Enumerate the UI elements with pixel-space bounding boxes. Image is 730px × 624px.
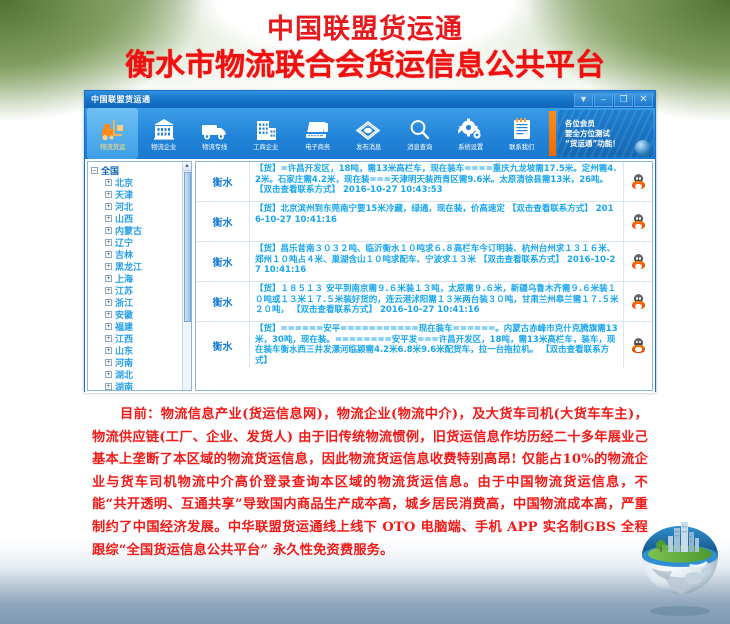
- toolbar-item-publish-message[interactable]: 发布消息: [343, 108, 394, 159]
- toolbar-item-industrial-commercial[interactable]: 工商企业: [240, 108, 291, 159]
- qq-penguin-icon: [632, 338, 645, 353]
- main-toolbar: 物流货运 物流企业: [85, 108, 655, 159]
- row-message-text: 【货】北京滨州到东莞南宁要15米冷藏，绿通，现在装，价高速定 【双击查看联系方式…: [255, 204, 593, 214]
- toolbar-divider: [549, 111, 556, 156]
- earth-city-globe-icon: [634, 516, 726, 616]
- truck-icon: [201, 115, 228, 141]
- qq-penguin-icon: [632, 254, 645, 269]
- expand-toggle-icon[interactable]: +: [105, 347, 112, 354]
- description-paragraph: 目前：物流信息产业(货运信息网)，物流企业(物流中介)，及大货车司机(大货车车主…: [92, 404, 648, 562]
- table-row[interactable]: 衡水【货】=许昌开发区，18吨，需13米高栏车，现在装车====重庆九龙坡需17…: [196, 162, 652, 202]
- close-icon[interactable]: ✕: [634, 93, 653, 107]
- tree-node-province[interactable]: +河南: [91, 356, 191, 368]
- envelope-icon: [355, 115, 381, 141]
- tree-scrollbar[interactable]: ▲: [182, 162, 191, 390]
- qq-penguin-icon: [632, 294, 645, 309]
- tree-node-province[interactable]: +山东: [91, 344, 191, 356]
- building-icon: [152, 115, 176, 141]
- row-contact-button[interactable]: [624, 242, 652, 281]
- tree-node-province[interactable]: +山西: [91, 212, 191, 224]
- collapse-toggle-icon[interactable]: –: [91, 167, 98, 174]
- expand-toggle-icon[interactable]: +: [105, 179, 112, 186]
- table-row[interactable]: 衡水【货】北京滨州到东莞南宁要15米冷藏，绿通，现在装，价高速定 【双击查看联系…: [196, 202, 652, 242]
- expand-toggle-icon[interactable]: +: [105, 251, 112, 258]
- tree-node-province[interactable]: +黑龙江: [91, 260, 191, 272]
- maximize-icon[interactable]: ❐: [614, 93, 633, 107]
- expand-toggle-icon[interactable]: +: [105, 335, 112, 342]
- region-tree-panel: – 全国 +北京+天津+河北+山西+内蒙古+辽宁+吉林+黑龙江+上海+江苏+浙江…: [87, 161, 192, 391]
- headline-line-2: 衡水市物流联合会货运信息公共平台: [0, 48, 730, 84]
- row-city: 衡水: [196, 162, 250, 201]
- tree-node-province[interactable]: +吉林: [91, 248, 191, 260]
- tree-node-province[interactable]: +湖北: [91, 368, 191, 380]
- gear-icon: [458, 115, 483, 141]
- toolbar-item-ecommerce[interactable]: 电子商务: [292, 108, 343, 159]
- row-city: 衡水: [196, 242, 250, 281]
- promo-line-2: 要全方位测试: [565, 129, 653, 139]
- row-message[interactable]: 【货】１８５１３ 安平到南京需９.６米装１３吨，太原需９.６米，新疆乌鲁木齐需９…: [250, 282, 624, 321]
- search-icon: [408, 115, 431, 141]
- freight-message-list: 衡水【货】=许昌开发区，18吨，需13米高栏车，现在装车====重庆九龙坡需17…: [195, 161, 653, 391]
- tree-node-province[interactable]: +安徽: [91, 308, 191, 320]
- row-contact-button[interactable]: [624, 322, 652, 368]
- forklift-icon: [100, 115, 126, 141]
- tree-node-province[interactable]: +湖南: [91, 380, 191, 391]
- row-contact-button[interactable]: [624, 162, 652, 201]
- table-row[interactable]: 衡水【货】======安平===========现在装车======。内蒙古赤峰…: [196, 322, 652, 368]
- expand-toggle-icon[interactable]: +: [105, 263, 112, 270]
- tree-node-province[interactable]: +天津: [91, 188, 191, 200]
- page-title: 中国联盟货运通 衡水市物流联合会货运信息公共平台: [0, 14, 730, 84]
- toolbar-label: 物流企业: [151, 142, 176, 151]
- toolbar-item-logistics-lines[interactable]: 物流专线: [189, 108, 240, 159]
- expand-toggle-icon[interactable]: +: [105, 227, 112, 234]
- window-titlebar: 中国联盟货运通 ▼ – ❐ ✕: [85, 91, 655, 108]
- row-city: 衡水: [196, 202, 250, 241]
- window-title: 中国联盟货运通: [91, 94, 151, 105]
- row-message-text: 【货】======安平===========现在装车======。内蒙古赤峰市克…: [255, 324, 618, 366]
- row-contact-button[interactable]: [624, 282, 652, 321]
- expand-toggle-icon[interactable]: +: [105, 383, 112, 390]
- toolbar-item-logistics-freight[interactable]: 物流货运: [87, 108, 138, 159]
- tree-children: +北京+天津+河北+山西+内蒙古+辽宁+吉林+黑龙江+上海+江苏+浙江+安徽+福…: [91, 176, 191, 391]
- document-icon: [511, 115, 533, 141]
- globe-mini-icon: [635, 140, 651, 156]
- row-timestamp: 2016-10-27 10:41:16: [380, 305, 480, 315]
- tree-node-province[interactable]: +上海: [91, 272, 191, 284]
- expand-toggle-icon[interactable]: +: [105, 323, 112, 330]
- tree-node-province[interactable]: +内蒙古: [91, 224, 191, 236]
- tree-node-province[interactable]: +北京: [91, 176, 191, 188]
- headline-line-1: 中国联盟货运通: [0, 14, 730, 46]
- promo-line-1: 各位会员: [565, 119, 653, 129]
- expand-toggle-icon[interactable]: +: [105, 311, 112, 318]
- row-city: 衡水: [196, 322, 250, 368]
- tree-node-province[interactable]: +浙江: [91, 296, 191, 308]
- toolbar-label: 消息查询: [407, 142, 432, 151]
- row-message[interactable]: 【货】=许昌开发区，18吨，需13米高栏车，现在装车====重庆九龙坡需17.5…: [250, 162, 624, 201]
- qq-penguin-icon: [632, 214, 645, 229]
- toolbar-label: 联系我们: [509, 142, 534, 151]
- expand-toggle-icon[interactable]: +: [105, 191, 112, 198]
- toolbar-label: 物流货运: [100, 142, 125, 151]
- expand-toggle-icon[interactable]: +: [105, 359, 112, 366]
- window-controls: ▼ – ❐ ✕: [574, 93, 653, 107]
- expand-toggle-icon[interactable]: +: [105, 239, 112, 246]
- expand-toggle-icon[interactable]: +: [105, 287, 112, 294]
- toolbar-label: 物流专线: [202, 142, 227, 151]
- row-message[interactable]: 【货】昌乐昔南３０３２吨、临沂衡水１０吨求６.８高栏车今订明装、杭州台州求１３１…: [250, 242, 624, 281]
- minimize-icon[interactable]: –: [594, 93, 613, 107]
- window-body: – 全国 +北京+天津+河北+山西+内蒙古+辽宁+吉林+黑龙江+上海+江苏+浙江…: [85, 159, 655, 393]
- tree-node-nationwide[interactable]: – 全国: [91, 164, 191, 176]
- toolbar-label: 系统设置: [458, 142, 483, 151]
- toolbar-item-logistics-companies[interactable]: 物流企业: [138, 108, 189, 159]
- row-message[interactable]: 【货】北京滨州到东莞南宁要15米冷藏，绿通，现在装，价高速定 【双击查看联系方式…: [250, 202, 624, 241]
- expand-toggle-icon[interactable]: +: [105, 299, 112, 306]
- row-timestamp: 2016-10-27 10:43:53: [343, 185, 443, 195]
- toolbar-item-contact-us[interactable]: 联系我们: [496, 108, 547, 159]
- qq-penguin-icon: [632, 174, 645, 189]
- tree-node-province[interactable]: +河北: [91, 200, 191, 212]
- toolbar-label: 工商企业: [253, 142, 278, 151]
- table-row[interactable]: 衡水【货】昌乐昔南３０３２吨、临沂衡水１０吨求６.８高栏车今订明装、杭州台州求１…: [196, 242, 652, 282]
- toolbar-label: 电子商务: [305, 142, 330, 151]
- promo-banner[interactable]: 各位会员 要全方位测试 “货运通”功能！: [558, 110, 653, 157]
- region-tree: – 全国 +北京+天津+河北+山西+内蒙古+辽宁+吉林+黑龙江+上海+江苏+浙江…: [88, 162, 191, 391]
- toolbar-label: 发布消息: [356, 142, 381, 151]
- row-city: 衡水: [196, 282, 250, 321]
- application-window: 中国联盟货运通 ▼ – ❐ ✕ 物流货运: [84, 90, 656, 392]
- dropdown-icon[interactable]: ▼: [574, 93, 593, 107]
- toolbar-item-system-settings[interactable]: 系统设置: [445, 108, 496, 159]
- tree-node-label: 湖南: [115, 380, 133, 392]
- computer-icon: [304, 115, 330, 141]
- table-row[interactable]: 衡水【货】１８５１３ 安平到南京需９.６米装１３吨，太原需９.６米，新疆乌鲁木齐…: [196, 282, 652, 322]
- row-message-text: 【货】昌乐昔南３０３２吨、临沂衡水１０吨求６.８高栏车今订明装、杭州台州求１３１…: [255, 244, 615, 265]
- tree-node-province[interactable]: +福建: [91, 320, 191, 332]
- expand-toggle-icon[interactable]: +: [105, 275, 112, 282]
- scrollbar-thumb[interactable]: [184, 172, 191, 322]
- row-contact-button[interactable]: [624, 202, 652, 241]
- expand-toggle-icon[interactable]: +: [105, 371, 112, 378]
- tree-node-province[interactable]: +辽宁: [91, 236, 191, 248]
- scroll-up-icon[interactable]: ▲: [183, 162, 191, 171]
- expand-toggle-icon[interactable]: +: [105, 215, 112, 222]
- tree-node-province[interactable]: +江西: [91, 332, 191, 344]
- toolbar-item-message-query[interactable]: 消息查询: [394, 108, 445, 159]
- tree-node-province[interactable]: +江苏: [91, 284, 191, 296]
- expand-toggle-icon[interactable]: +: [105, 203, 112, 210]
- office-icon: [254, 115, 278, 141]
- row-message[interactable]: 【货】======安平===========现在装车======。内蒙古赤峰市克…: [250, 322, 624, 368]
